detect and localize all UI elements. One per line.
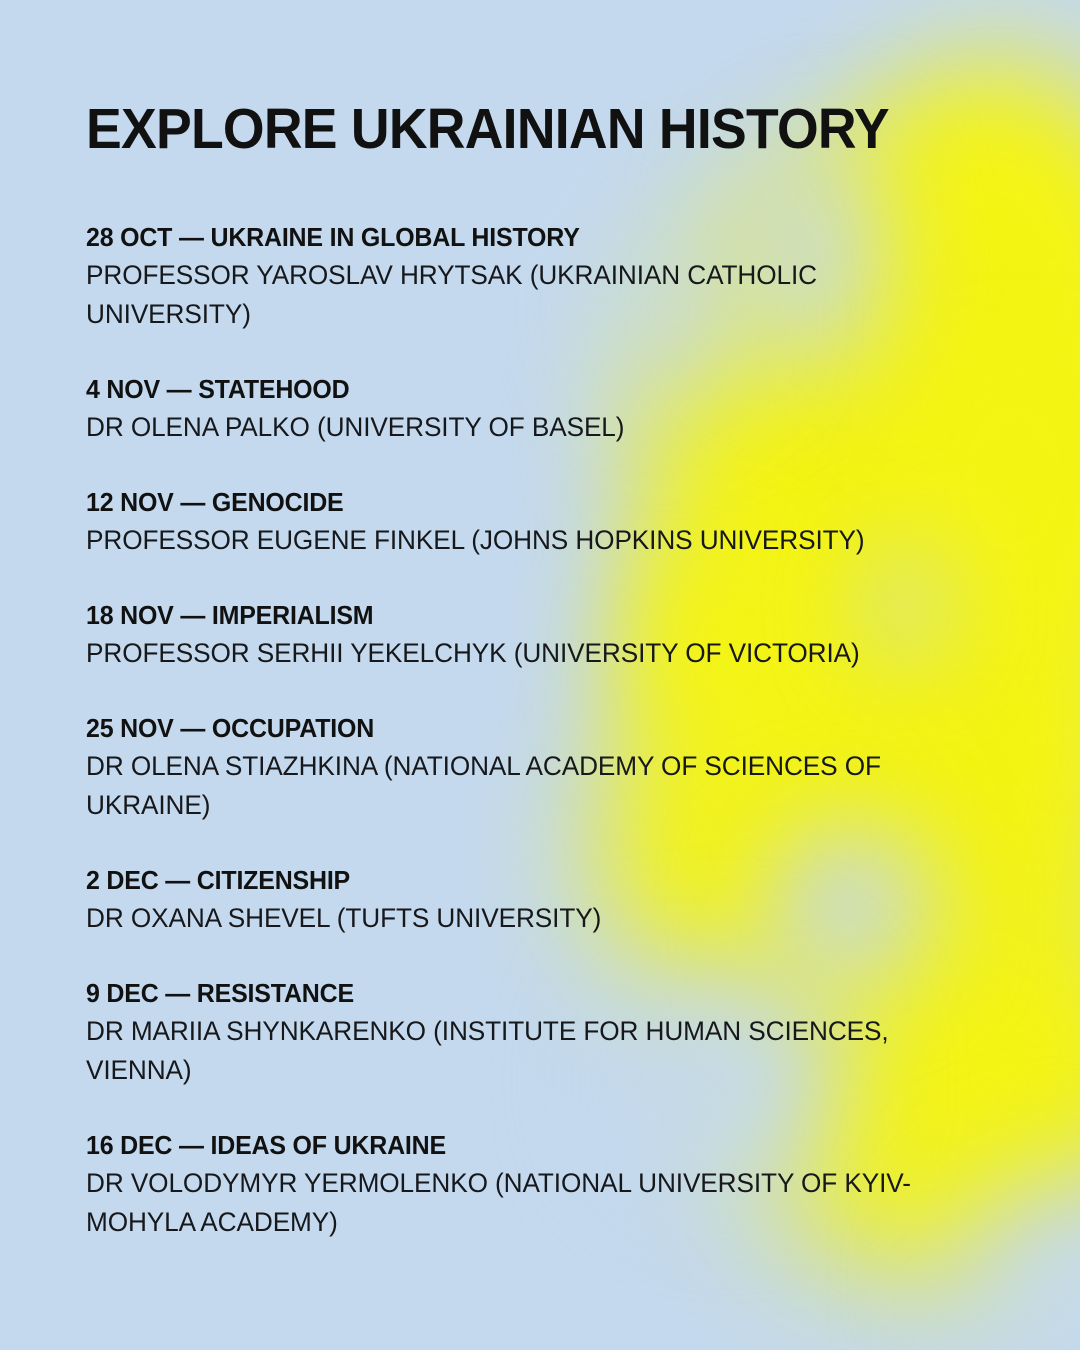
lecture-presenter: DR OLENA PALKO (UNIVERSITY OF BASEL) [86, 408, 920, 447]
list-item: 25 NOV — OCCUPATION DR OLENA STIAZHKINA … [86, 709, 966, 825]
list-item: 12 NOV — GENOCIDE PROFESSOR EUGENE FINKE… [86, 483, 966, 560]
list-item: 4 NOV — STATEHOOD DR OLENA PALKO (UNIVER… [86, 370, 966, 447]
list-item: 18 NOV — IMPERIALISM PROFESSOR SERHII YE… [86, 596, 966, 673]
lecture-presenter: PROFESSOR YAROSLAV HRYTSAK (UKRAINIAN CA… [86, 256, 920, 334]
lecture-presenter: DR MARIIA SHYNKARENKO (INSTITUTE FOR HUM… [86, 1012, 920, 1090]
lecture-presenter: DR VOLODYMYR YERMOLENKO (NATIONAL UNIVER… [86, 1164, 920, 1242]
lecture-heading: 28 OCT — UKRAINE IN GLOBAL HISTORY [86, 218, 931, 256]
lecture-presenter: DR OLENA STIAZHKINA (NATIONAL ACADEMY OF… [86, 747, 920, 825]
lecture-heading: 4 NOV — STATEHOOD [86, 370, 931, 408]
list-item: 16 DEC — IDEAS OF UKRAINE DR VOLODYMYR Y… [86, 1126, 966, 1242]
poster-content: EXPLORE UKRAINIAN HISTORY 28 OCT — UKRAI… [86, 0, 986, 1350]
lecture-schedule-list: 28 OCT — UKRAINE IN GLOBAL HISTORY PROFE… [86, 218, 966, 1242]
list-item: 2 DEC — CITIZENSHIP DR OXANA SHEVEL (TUF… [86, 861, 966, 938]
lecture-heading: 9 DEC — RESISTANCE [86, 974, 931, 1012]
lecture-presenter: PROFESSOR SERHII YEKELCHYK (UNIVERSITY O… [86, 634, 920, 673]
page-title: EXPLORE UKRAINIAN HISTORY [86, 101, 889, 158]
lecture-presenter: PROFESSOR EUGENE FINKEL (JOHNS HOPKINS U… [86, 521, 920, 560]
lecture-heading: 2 DEC — CITIZENSHIP [86, 861, 931, 899]
list-item: 28 OCT — UKRAINE IN GLOBAL HISTORY PROFE… [86, 218, 966, 334]
list-item: 9 DEC — RESISTANCE DR MARIIA SHYNKARENKO… [86, 974, 966, 1090]
lecture-heading: 18 NOV — IMPERIALISM [86, 596, 931, 634]
lecture-heading: 12 NOV — GENOCIDE [86, 483, 931, 521]
lecture-heading: 16 DEC — IDEAS OF UKRAINE [86, 1126, 931, 1164]
poster: EXPLORE UKRAINIAN HISTORY 28 OCT — UKRAI… [0, 0, 1080, 1350]
lecture-heading: 25 NOV — OCCUPATION [86, 709, 931, 747]
lecture-presenter: DR OXANA SHEVEL (TUFTS UNIVERSITY) [86, 899, 920, 938]
